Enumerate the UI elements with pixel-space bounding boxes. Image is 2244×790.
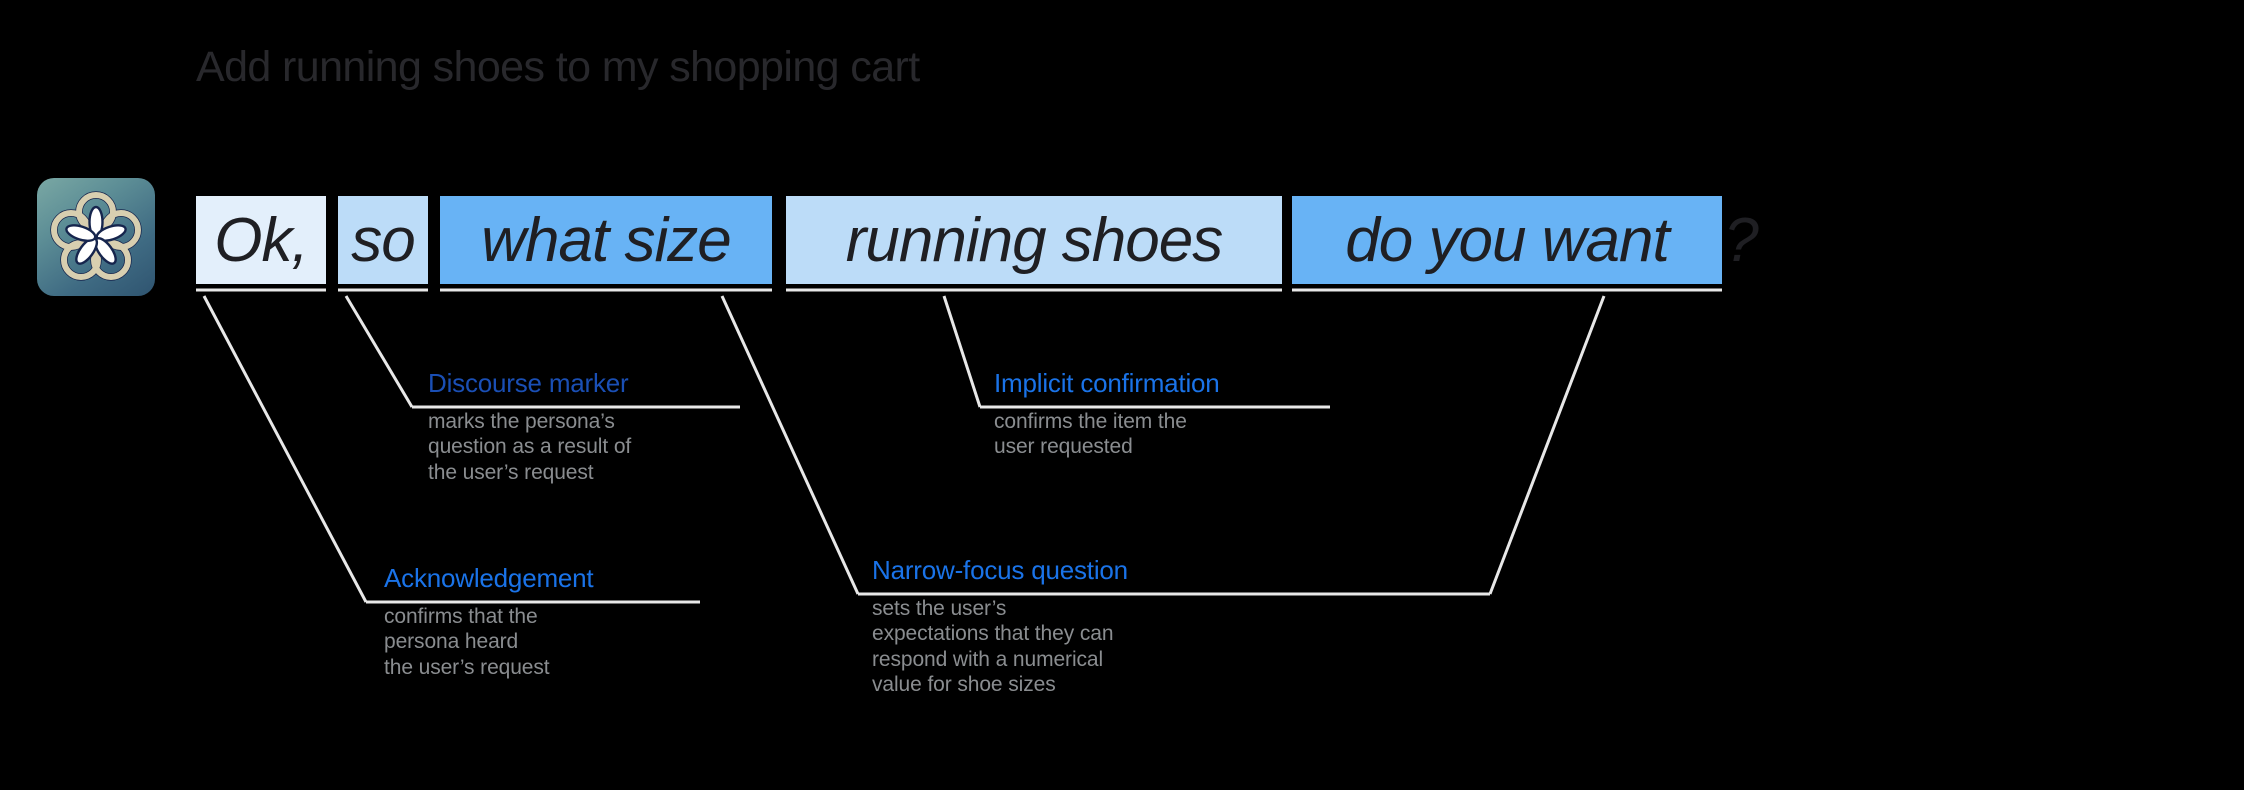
leader-diagonal-narrow-focus-left: [722, 296, 858, 594]
annotation-acknowledgement: Acknowledgement confirms that the person…: [384, 564, 593, 680]
annotation-title: Narrow-focus question: [872, 556, 1128, 585]
utterance-token-0: Ok,: [196, 196, 326, 284]
utterance-token-1: so: [338, 196, 428, 284]
leader-diagonal-acknowledgement: [204, 296, 366, 602]
leader-diagonal-implicit-confirmation: [944, 296, 980, 407]
user-request-title: Add running shoes to my shopping cart: [196, 46, 920, 89]
annotation-description: marks the persona’s question as a result…: [428, 409, 631, 486]
annotation-discourse-marker: Discourse marker marks the persona’s que…: [428, 369, 631, 485]
utterance-token-5: ?: [1724, 196, 1758, 284]
leader-diagonal-discourse-marker: [346, 296, 412, 407]
diagram-canvas: Add running shoes to my shopping cart: [0, 0, 2244, 790]
utterance-token-4: do you want: [1292, 196, 1722, 284]
leader-diagonal-narrow-focus-right: [1490, 296, 1604, 594]
annotation-description: confirms that the persona heard the user…: [384, 604, 593, 681]
annotation-title: Acknowledgement: [384, 564, 593, 593]
persona-rosette-avatar: [37, 178, 155, 296]
annotation-narrow-focus-question: Narrow-focus question sets the user’s ex…: [872, 556, 1128, 698]
annotation-title: Implicit confirmation: [994, 369, 1220, 398]
annotation-description: sets the user’s expectations that they c…: [872, 596, 1128, 698]
utterance-token-3: running shoes: [786, 196, 1282, 284]
annotation-title: Discourse marker: [428, 369, 631, 398]
annotation-description: confirms the item the user requested: [994, 409, 1220, 460]
annotation-implicit-confirmation: Implicit confirmation confirms the item …: [994, 369, 1220, 460]
utterance-token-2: what size: [440, 196, 772, 284]
